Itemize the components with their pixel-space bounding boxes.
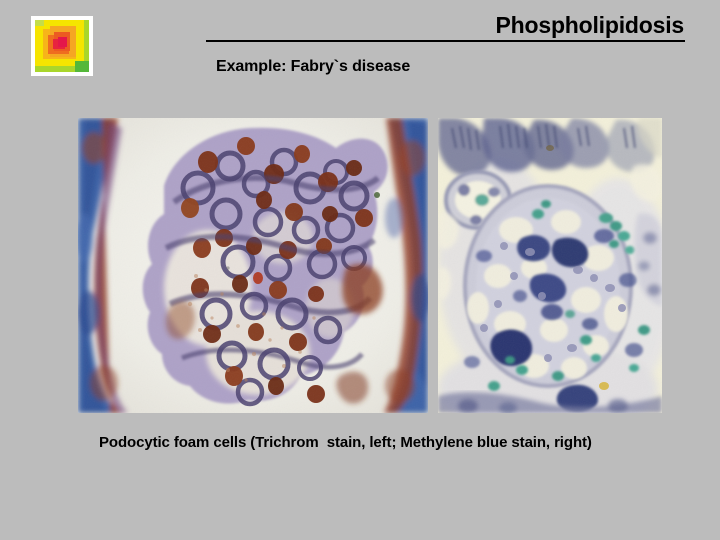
histology-image-methylene-blue [438,118,662,413]
subtitle: Example: Fabry`s disease [216,58,410,76]
nested-squares-logo [31,16,93,76]
histology-image-trichrom [78,118,428,413]
logo-graphic [35,20,89,72]
title-underline-rule [206,40,685,42]
logo-square-green-accent [75,61,89,72]
slide: Phospholipidosis Example: Fabry`s diseas… [0,0,720,540]
page-title: Phospholipidosis [206,12,684,38]
figure-caption: Podocytic foam cells (Trichrom stain, le… [99,432,629,453]
logo-square-red-b [58,37,67,47]
